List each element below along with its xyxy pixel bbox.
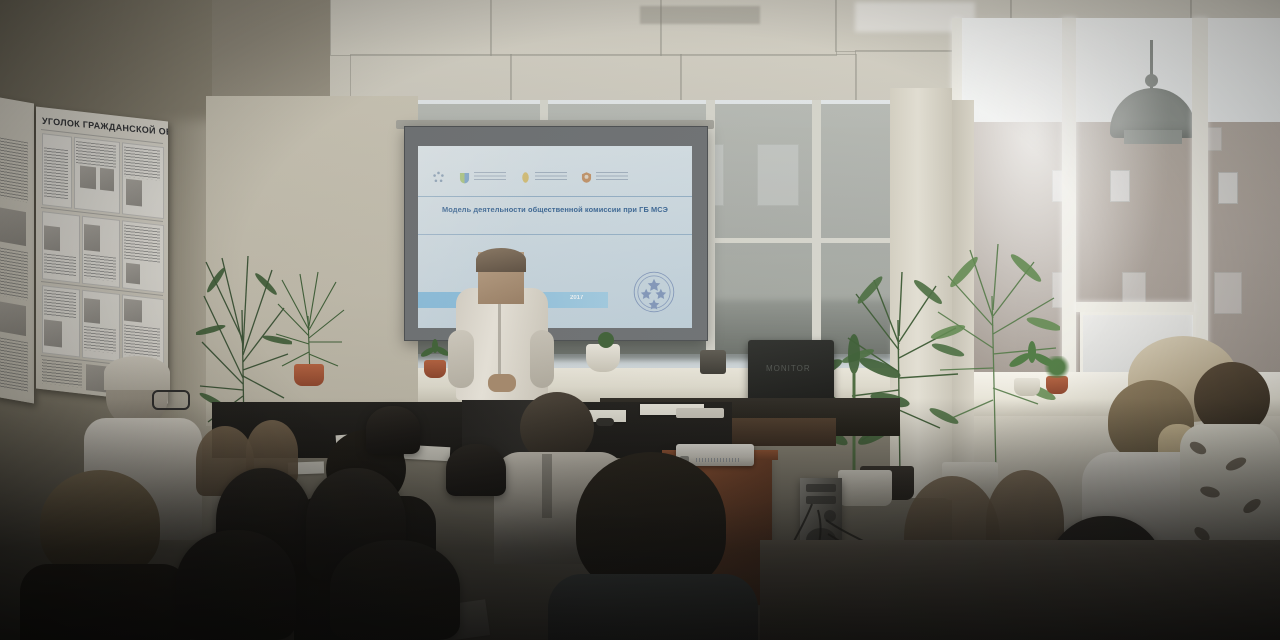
plant-foliage: [598, 332, 614, 348]
leaves-icon: [418, 338, 452, 364]
computer-monitor[interactable]: MONITOR: [748, 340, 834, 406]
presenter-hands: [488, 374, 516, 392]
slide-divider: [418, 234, 692, 235]
plant-foliage: [1042, 356, 1072, 378]
logo-caption-lines: [535, 172, 567, 182]
logo-caption-lines: [474, 172, 506, 182]
grey-shirt: [548, 574, 758, 640]
slide-divider: [418, 196, 692, 197]
wall-poster-secondary: [0, 96, 34, 403]
presenter-arm-right: [530, 330, 554, 388]
blonde-hair: [40, 470, 160, 578]
ceiling-vent: [640, 6, 760, 24]
plant-pot-terracotta: [294, 364, 324, 386]
slide-year-badge: 2017: [570, 295, 583, 301]
ministry-logo: [458, 171, 506, 184]
stars-circle-emblem-icon: [632, 270, 676, 314]
dark-planter: [700, 350, 726, 374]
poster-title: УГОЛОК ГРАЖДАНСКОЙ ОБОРОНЫ: [42, 116, 166, 137]
small-plant: [418, 338, 452, 364]
plant-pot-terracotta: [1046, 376, 1068, 394]
chair-back[interactable]: [446, 444, 506, 496]
logo-caption-lines: [596, 172, 628, 182]
photo-scene: УГОЛОК ГРАЖДАНСКОЙ ОБОРОНЫ: [0, 0, 1280, 640]
presenter-hair: [476, 248, 526, 272]
plant-pot-white: [1014, 378, 1040, 396]
floor: [760, 540, 1280, 640]
audience-member-blonde-woman-left: [20, 470, 190, 640]
chair-back[interactable]: [330, 540, 460, 640]
grants-fund-icon: [519, 171, 532, 184]
chair-back[interactable]: [176, 530, 296, 640]
recycle-ring-icon: [432, 171, 445, 184]
keyboard[interactable]: [676, 408, 724, 418]
federal-agency-logo: [580, 171, 628, 184]
shoulders: [20, 564, 190, 640]
dark-hair: [576, 452, 726, 592]
ministry-shield-icon: [458, 171, 471, 184]
monitor-brand-label: MONITOR: [766, 364, 811, 373]
federal-emblem-icon: [580, 171, 593, 184]
slide-logo-row: [432, 168, 678, 186]
eyeglasses-icon: [152, 390, 190, 410]
chair-back[interactable]: [366, 406, 420, 454]
presenter-arm-left: [448, 330, 474, 388]
recycle-ring-logo: [432, 171, 445, 184]
white-planter: [586, 344, 620, 372]
audience-member-foreground-center: [548, 452, 758, 640]
presidential-grants-fund-logo: [519, 171, 567, 184]
slide-title: Модель деятельности общественной комисси…: [430, 204, 680, 215]
grey-hair: [104, 356, 170, 390]
